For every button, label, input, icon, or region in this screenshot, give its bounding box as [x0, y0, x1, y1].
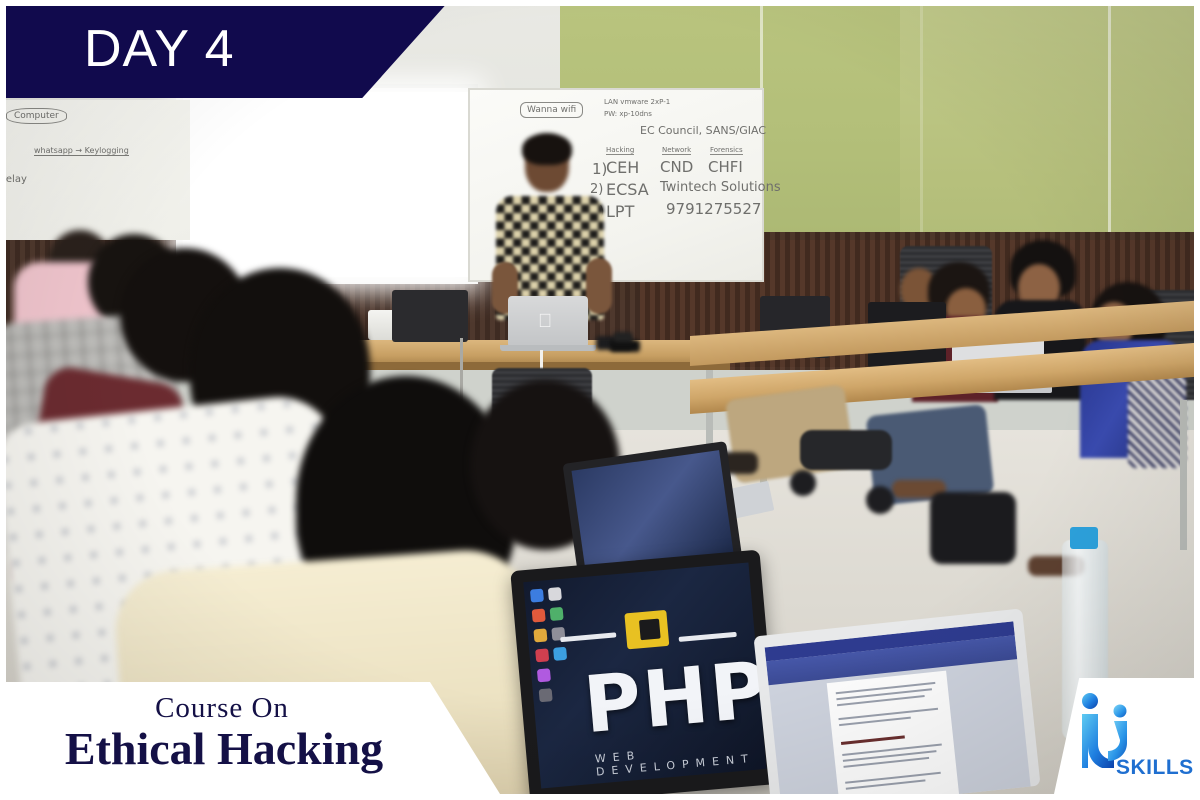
- board-note-circled: Computer: [6, 108, 67, 124]
- decorative-rule: [679, 632, 737, 642]
- document-screen: [765, 621, 1031, 800]
- php-wallpaper-screen: PHP WEB DEVELOPMENT: [523, 563, 766, 789]
- whiteboard-row1-forensics: CHFI: [708, 158, 743, 176]
- presenter-hair: [522, 133, 572, 165]
- whiteboard-left: Computer whatsapp → Keylogging relay: [0, 100, 190, 240]
- course-title: Ethical Hacking: [0, 724, 500, 774]
- macbook-with-document: [753, 608, 1040, 800]
- whiteboard-phone: 9791275527: [666, 200, 761, 218]
- course-eyebrow: Course On: [0, 692, 500, 724]
- php-laptop: PHP WEB DEVELOPMENT: [510, 550, 780, 800]
- whiteboard-row1-network: CND: [660, 158, 693, 176]
- whiteboard-col-hacking: Hacking: [606, 146, 634, 155]
- bottle-cap: [1070, 527, 1098, 549]
- day-badge-label: DAY 4: [84, 23, 235, 75]
- whiteboard-row2-hacking: ECSA: [606, 180, 649, 199]
- php-wallpaper-title: PHP: [581, 651, 767, 745]
- desktop-icon[interactable]: [550, 607, 564, 621]
- board-note-flow: whatsapp → Keylogging: [34, 146, 129, 156]
- classroom-photo: Computer whatsapp → Keylogging relay Wan…: [0, 0, 1200, 800]
- desktop-icon[interactable]: [530, 589, 544, 603]
- whiteboard-row1-num: 1): [592, 160, 607, 178]
- desktop-icon[interactable]: [535, 648, 549, 662]
- chair-wheel: [866, 486, 894, 514]
- poster: Computer whatsapp → Keylogging relay Wan…: [0, 0, 1200, 800]
- whiteboard-col-network: Network: [662, 146, 691, 155]
- whiteboard-wanna-wifi: Wanna wifi: [520, 102, 583, 118]
- whiteboard-row1-hacking: CEH: [606, 158, 639, 177]
- board-note-relay: relay: [2, 174, 27, 185]
- whiteboard-note-2: PW: xp-10dns: [604, 110, 652, 118]
- whiteboard-col-forensics: Forensics: [710, 146, 743, 155]
- heading-line: [841, 735, 905, 745]
- phone-on-table: [614, 332, 632, 342]
- whiteboard-company: Twintech Solutions: [660, 180, 781, 195]
- projection-screen: [183, 92, 470, 277]
- course-banner: Course On Ethical Hacking: [0, 682, 500, 794]
- table-leg: [1180, 400, 1187, 550]
- php-logo-inner: [639, 619, 661, 641]
- desktop-icon[interactable]: [548, 587, 562, 601]
- apple-logo-icon: : [538, 312, 555, 332]
- desktop-icon[interactable]: [533, 628, 547, 642]
- bag-under-table: [930, 492, 1016, 564]
- presenter-arm-right: [586, 258, 612, 314]
- desktop-icon[interactable]: [539, 688, 553, 702]
- decorative-rule: [560, 632, 616, 642]
- whiteboard-orgs: EC Council, SANS/GIAC: [640, 124, 766, 137]
- student-kurta-pattern: [1128, 372, 1186, 468]
- desktop-icon[interactable]: [553, 647, 567, 661]
- black-laptop-presenter-table: [392, 290, 468, 342]
- chair-wheel: [790, 470, 816, 496]
- whiteboard-row3-hacking: LPT: [606, 202, 634, 221]
- desktop-icon[interactable]: [537, 668, 551, 682]
- whiteboard-row2-num: 2): [590, 182, 603, 197]
- desktop-icon[interactable]: [532, 608, 546, 622]
- logo-wordmark: SKILLS: [1116, 756, 1194, 780]
- whiteboard-note-1: LAN vmware 2xP-1: [604, 98, 670, 106]
- chair-seat: [800, 430, 892, 470]
- document-page: [827, 671, 959, 800]
